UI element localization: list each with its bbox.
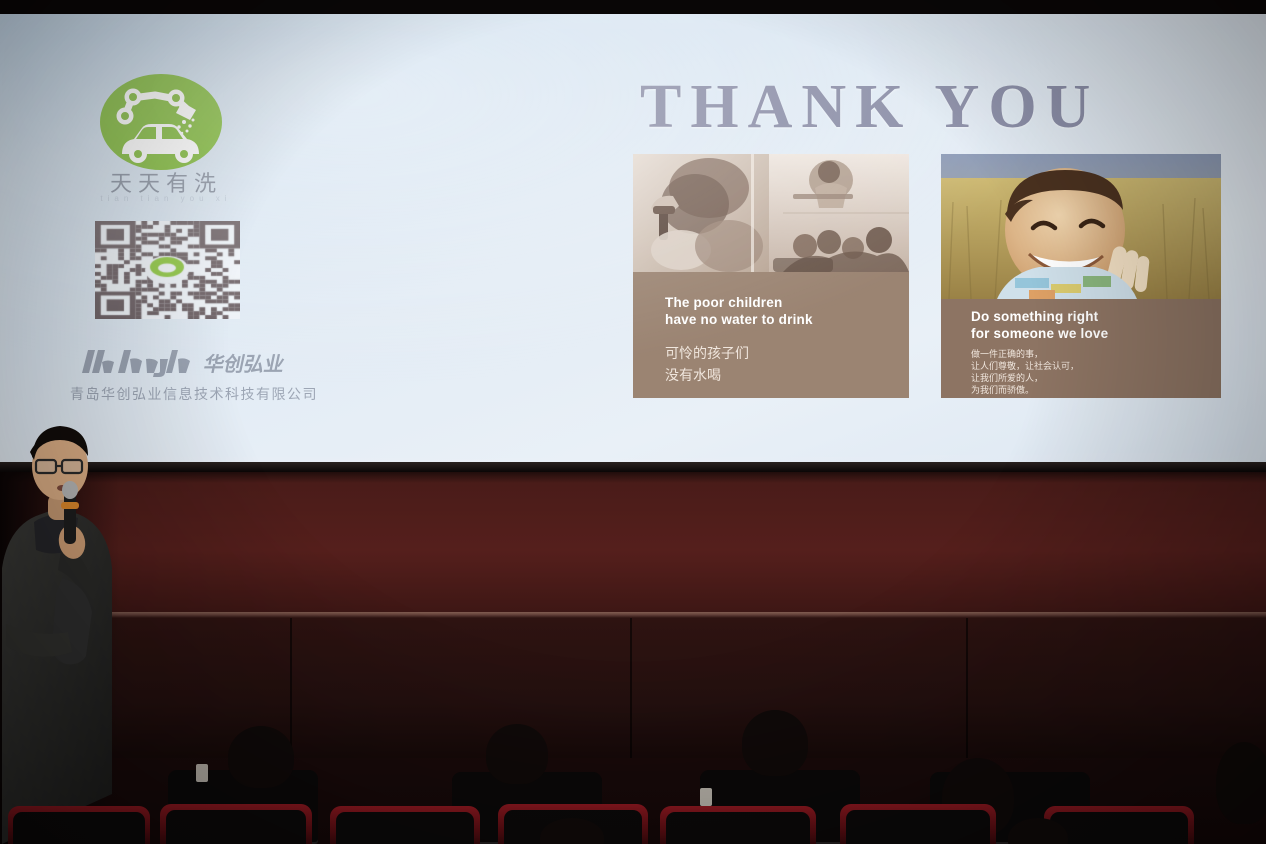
back-wall-upper — [0, 468, 1266, 618]
seat-front-pad — [1050, 812, 1188, 844]
photo-smiling-child — [941, 154, 1221, 299]
slide-thank-you: 天天有洗 tian tian you xi — [0, 14, 1266, 466]
seat-front-pad — [336, 812, 474, 844]
seat-front-pad — [166, 810, 306, 844]
audience-head — [1216, 742, 1266, 824]
wall-panel-divider — [966, 618, 968, 758]
audience-head — [486, 724, 548, 784]
cup — [196, 764, 208, 782]
card-caption-area: The poor children have no water to drink… — [633, 272, 909, 398]
photo-children-water — [633, 154, 909, 272]
card-caption-en-line1: Do something right — [971, 308, 1098, 325]
seat-front-pad — [846, 810, 990, 844]
card-do-something-right: Do something right for someone we love 做… — [941, 154, 1221, 398]
card-caption-area: Do something right for someone we love 做… — [941, 299, 1221, 398]
card-poor-children: The poor children have no water to drink… — [633, 154, 909, 398]
card-caption-cn-line2: 没有水喝 — [665, 365, 721, 385]
qr-code[interactable] — [95, 221, 240, 319]
back-wall-lower — [0, 618, 1266, 758]
company-full-name: 青岛华创弘业信息技术科技有限公司 — [70, 384, 318, 404]
projection-screen-frame: 天天有洗 tian tian you xi — [0, 0, 1266, 470]
slide-title: THANK YOU — [640, 72, 1240, 143]
company-wordmark: 华创弘业 — [78, 347, 313, 377]
card-caption-cn-line4: 为我们而骄傲。 — [971, 383, 1034, 396]
card-caption-en-line2: for someone we love — [971, 325, 1108, 342]
card-caption-en-line1: The poor children — [665, 294, 782, 311]
presenter — [0, 418, 140, 844]
seat-front-pad — [13, 812, 145, 844]
presentation-photo: 天天有洗 tian tian you xi — [0, 0, 1266, 844]
wall-panel-divider — [290, 618, 292, 758]
brand-name-pinyin: tian tian you xi — [76, 194, 256, 203]
audience-head — [742, 710, 808, 776]
audience-head — [228, 726, 294, 788]
screen-bottom-bar — [0, 462, 1266, 472]
wall-panel-divider — [630, 618, 632, 758]
card-caption-en-line2: have no water to drink — [665, 311, 813, 328]
card-caption-cn-line1: 可怜的孩子们 — [665, 343, 749, 363]
cup — [700, 788, 712, 806]
seat-front-pad — [666, 812, 810, 844]
svg-text:华创弘业: 华创弘业 — [202, 352, 287, 376]
car-wash-logo-icon — [98, 72, 224, 176]
screen-top-bar — [0, 0, 1266, 15]
